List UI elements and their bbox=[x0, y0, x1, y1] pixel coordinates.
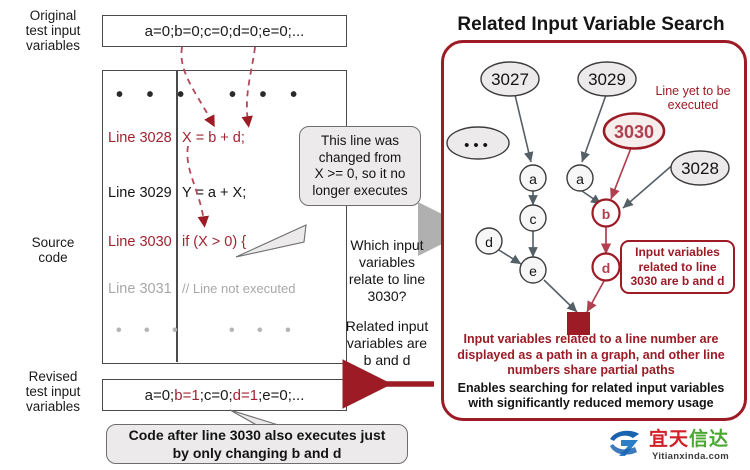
note-line-yet-line1: Line yet to be bbox=[640, 84, 746, 98]
panel-title: Related Input Variable Search bbox=[438, 14, 744, 36]
node-d-1-label: d bbox=[485, 234, 493, 250]
answer-line2: variables are bbox=[333, 335, 441, 352]
code-ellipsis-bottom-left: • • • bbox=[116, 322, 187, 340]
code-ellipsis-bottom-right: • • • bbox=[229, 322, 300, 340]
middle-answer-text: Related input variables are b and d bbox=[333, 318, 441, 369]
node-a-2-label: a bbox=[576, 171, 584, 187]
answer-line3: b and d bbox=[333, 352, 441, 369]
revised-vars-b: b=1 bbox=[174, 387, 199, 404]
edge-e-sink bbox=[544, 280, 577, 312]
node-b-label: b bbox=[602, 206, 611, 222]
label-revised-test-input: Revised test input variables bbox=[10, 369, 96, 414]
callout-changed-line2: changed from bbox=[312, 150, 407, 167]
brand-logo: 宜天 信达 Yitianxinda.com bbox=[608, 424, 729, 462]
diagram-canvas: Original test input variables Source cod… bbox=[0, 0, 750, 470]
callout-line-changed: This line was changed from X >= 0, so it… bbox=[299, 126, 421, 206]
node-e-label: e bbox=[529, 263, 537, 279]
answer-line1: Related input bbox=[333, 318, 441, 335]
node-3027-label: 3027 bbox=[491, 70, 529, 89]
callout-changed-line3: X >= 0, so it no bbox=[312, 166, 407, 183]
callout-vars-line3: 3030 are b and d bbox=[630, 274, 724, 289]
footer-red-line3: numbers share partial paths bbox=[441, 363, 741, 379]
edge-3027-a bbox=[515, 95, 531, 162]
node-d-2-label: d bbox=[602, 260, 611, 276]
logo-url: Yitianxinda.com bbox=[649, 451, 729, 462]
question-line2: variables bbox=[333, 254, 441, 271]
middle-question-text: Which input variables relate to line 303… bbox=[333, 237, 441, 305]
callout-vars-line2: related to line bbox=[630, 260, 724, 275]
question-line3: relate to line bbox=[333, 271, 441, 288]
note-line-yet-line2: executed bbox=[640, 98, 746, 112]
footer-red-line2: displayed as a path in a graph, and othe… bbox=[441, 348, 741, 364]
node-3028-label: 3028 bbox=[681, 159, 719, 178]
edge-3030-b bbox=[611, 148, 631, 199]
label-revised-line2: test input bbox=[10, 384, 96, 399]
callout-related-input-variables: Input variables related to line 3030 are… bbox=[620, 240, 735, 294]
node-3030-label: 3030 bbox=[614, 122, 654, 142]
node-3029-label: 3029 bbox=[588, 70, 626, 89]
footer-red-line1: Input variables related to a line number… bbox=[441, 332, 741, 348]
node-c-label: c bbox=[530, 211, 537, 227]
callout-changed-line4: longer executes bbox=[312, 183, 407, 200]
question-line4: 3030? bbox=[333, 288, 441, 305]
dashed-arrow-x-propagation bbox=[187, 146, 204, 222]
panel-footer: Input variables related to a line number… bbox=[441, 332, 741, 412]
callout-revised-line2: by only changing b and d bbox=[129, 444, 386, 462]
logo-cn-red: 宜天 bbox=[649, 424, 689, 451]
callout-revised-executes: Code after line 3030 also executes just … bbox=[106, 424, 408, 464]
dashed-arrow-b bbox=[181, 47, 212, 122]
label-revised-line1: Revised bbox=[10, 369, 96, 384]
node-a-1-label: a bbox=[529, 171, 537, 187]
callout-changed-line1: This line was bbox=[312, 133, 407, 150]
footer-black-line2: with significantly reduced memory usage bbox=[441, 396, 741, 412]
question-line1: Which input bbox=[333, 237, 441, 254]
logo-swoosh-icon bbox=[608, 428, 644, 458]
dashed-arrow-d bbox=[247, 47, 255, 122]
edge-d2-sink bbox=[587, 281, 604, 312]
footer-black-line1: Enables searching for related input vari… bbox=[441, 381, 741, 397]
logo-cn-green: 信达 bbox=[689, 424, 729, 451]
edge-3028-b bbox=[623, 162, 676, 208]
edge-d-e bbox=[499, 250, 521, 264]
edge-3029-a2 bbox=[582, 95, 606, 162]
note-line-yet-to-be-executed: Line yet to be executed bbox=[640, 84, 746, 112]
revised-vars-a: a=0; bbox=[145, 387, 175, 404]
callout-vars-line1: Input variables bbox=[630, 245, 724, 260]
label-revised-line3: variables bbox=[10, 399, 96, 414]
node-ellipsis-label: ••• bbox=[464, 137, 492, 154]
callout-revised-line1: Code after line 3030 also executes just bbox=[129, 426, 386, 444]
